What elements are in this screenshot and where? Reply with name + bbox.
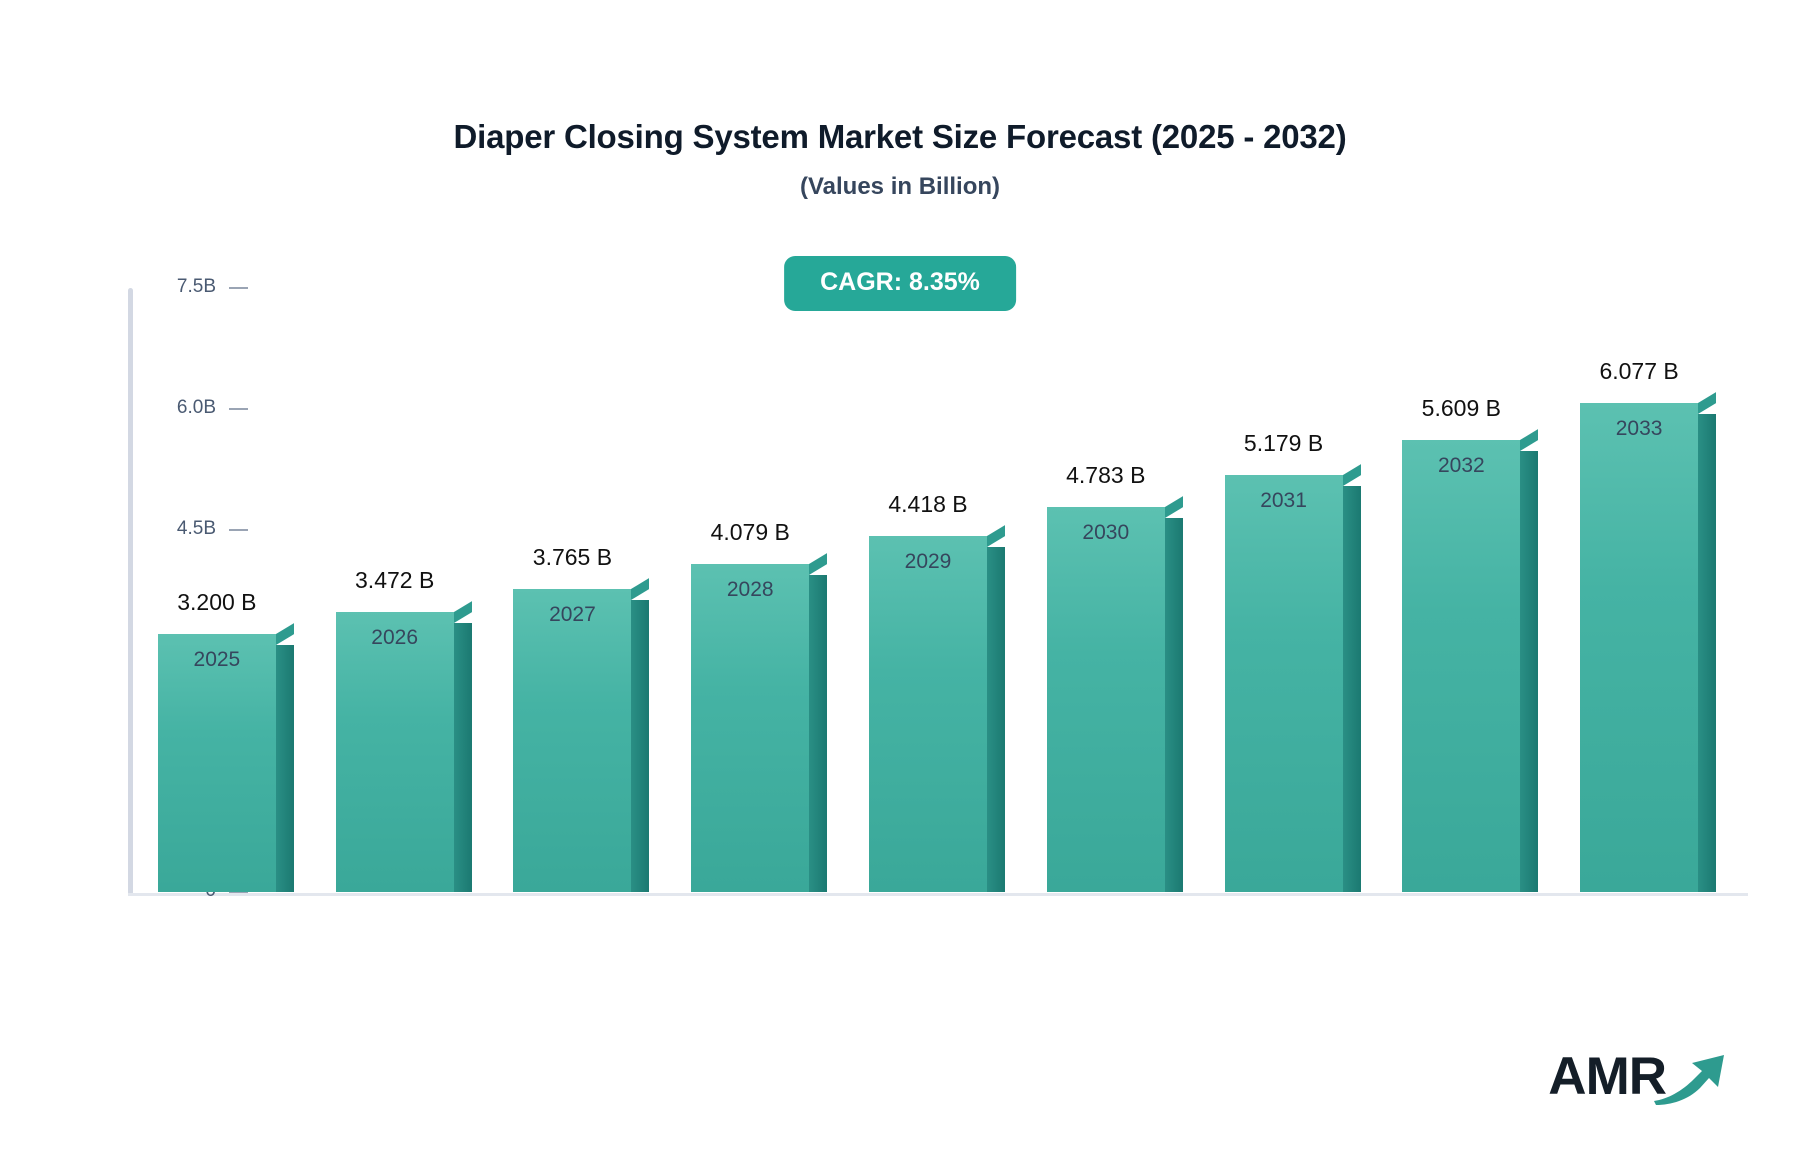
bar-2030[interactable]: 4.783 B2030 bbox=[1047, 507, 1165, 892]
bar-top-face bbox=[1343, 464, 1361, 486]
bar-front-face bbox=[869, 536, 987, 892]
bar-2025[interactable]: 3.200 B2025 bbox=[158, 634, 276, 892]
bar-front-face bbox=[158, 634, 276, 892]
bar-2027[interactable]: 3.765 B2027 bbox=[513, 589, 631, 892]
bar-front-face bbox=[1225, 475, 1343, 892]
bar-top-face bbox=[1165, 496, 1183, 518]
bar-front-face bbox=[513, 589, 631, 892]
bar-front-face bbox=[1580, 403, 1698, 892]
x-axis-label-2033: 2033 bbox=[1616, 417, 1663, 441]
x-axis-label-2027: 2027 bbox=[549, 603, 596, 627]
bar-top-face bbox=[631, 578, 649, 600]
bar-top-face bbox=[1520, 429, 1538, 451]
bar-top-face bbox=[454, 602, 472, 624]
bar-top-face bbox=[987, 525, 1005, 547]
growth-arrow-icon bbox=[1652, 1049, 1730, 1110]
bar-value-label: 4.783 B bbox=[1066, 462, 1145, 489]
bar-value-label: 4.418 B bbox=[888, 491, 967, 518]
bar-2032[interactable]: 5.609 B2032 bbox=[1402, 440, 1520, 892]
y-axis-tick-label: 7.5B bbox=[177, 276, 216, 298]
bar-2026[interactable]: 3.472 B2026 bbox=[336, 612, 454, 892]
bar-side-face bbox=[987, 547, 1005, 892]
logo-text: AMR bbox=[1548, 1050, 1666, 1103]
chart-page: Diaper Closing System Market Size Foreca… bbox=[0, 0, 1800, 1156]
x-axis-label-2030: 2030 bbox=[1082, 521, 1129, 545]
bar-top-face bbox=[1698, 392, 1716, 414]
bar-front-face bbox=[691, 564, 809, 892]
y-axis-tick-mark bbox=[229, 529, 248, 531]
plot-area: 01.5B3.0B4.5B6.0B7.5B 3.200 B20253.472 B… bbox=[128, 288, 1728, 892]
bar-value-label: 6.077 B bbox=[1599, 358, 1678, 385]
bar-side-face bbox=[1520, 451, 1538, 892]
bar-value-label: 4.079 B bbox=[711, 519, 790, 546]
bar-top-face bbox=[809, 553, 827, 575]
bar-value-label: 3.200 B bbox=[177, 589, 256, 616]
chart-subtitle: (Values in Billion) bbox=[0, 173, 1800, 201]
y-axis-tick-label: 6.0B bbox=[177, 397, 216, 419]
bar-side-face bbox=[809, 575, 827, 892]
bar-side-face bbox=[454, 623, 472, 892]
bar-2028[interactable]: 4.079 B2028 bbox=[691, 564, 809, 892]
x-axis-label-2025: 2025 bbox=[194, 648, 241, 672]
amr-logo: AMR bbox=[1548, 1049, 1730, 1104]
bar-value-label: 5.609 B bbox=[1422, 395, 1501, 422]
y-axis-tick-label: 4.5B bbox=[177, 518, 216, 540]
bar-2033[interactable]: 6.077 B2033 bbox=[1580, 403, 1698, 892]
y-axis-tick-mark bbox=[229, 408, 248, 410]
bar-side-face bbox=[1343, 486, 1361, 892]
x-axis-line bbox=[128, 893, 1748, 896]
bar-side-face bbox=[631, 600, 649, 892]
x-axis-label-2031: 2031 bbox=[1260, 489, 1307, 513]
bar-side-face bbox=[1698, 414, 1716, 892]
bar-value-label: 5.179 B bbox=[1244, 430, 1323, 457]
bar-2029[interactable]: 4.418 B2029 bbox=[869, 536, 987, 892]
x-axis-label-2026: 2026 bbox=[371, 626, 418, 650]
x-axis-label-2028: 2028 bbox=[727, 578, 774, 602]
bar-side-face bbox=[1165, 518, 1183, 892]
bar-front-face bbox=[336, 612, 454, 892]
chart-title: Diaper Closing System Market Size Foreca… bbox=[0, 118, 1800, 156]
y-axis-tick-mark bbox=[229, 287, 248, 289]
bar-value-label: 3.765 B bbox=[533, 544, 612, 571]
bar-value-label: 3.472 B bbox=[355, 567, 434, 594]
bar-front-face bbox=[1402, 440, 1520, 892]
bar-top-face bbox=[276, 623, 294, 645]
bar-2031[interactable]: 5.179 B2031 bbox=[1225, 475, 1343, 892]
bar-side-face bbox=[276, 645, 294, 892]
x-axis-label-2029: 2029 bbox=[905, 550, 952, 574]
bar-front-face bbox=[1047, 507, 1165, 892]
x-axis-label-2032: 2032 bbox=[1438, 454, 1485, 478]
